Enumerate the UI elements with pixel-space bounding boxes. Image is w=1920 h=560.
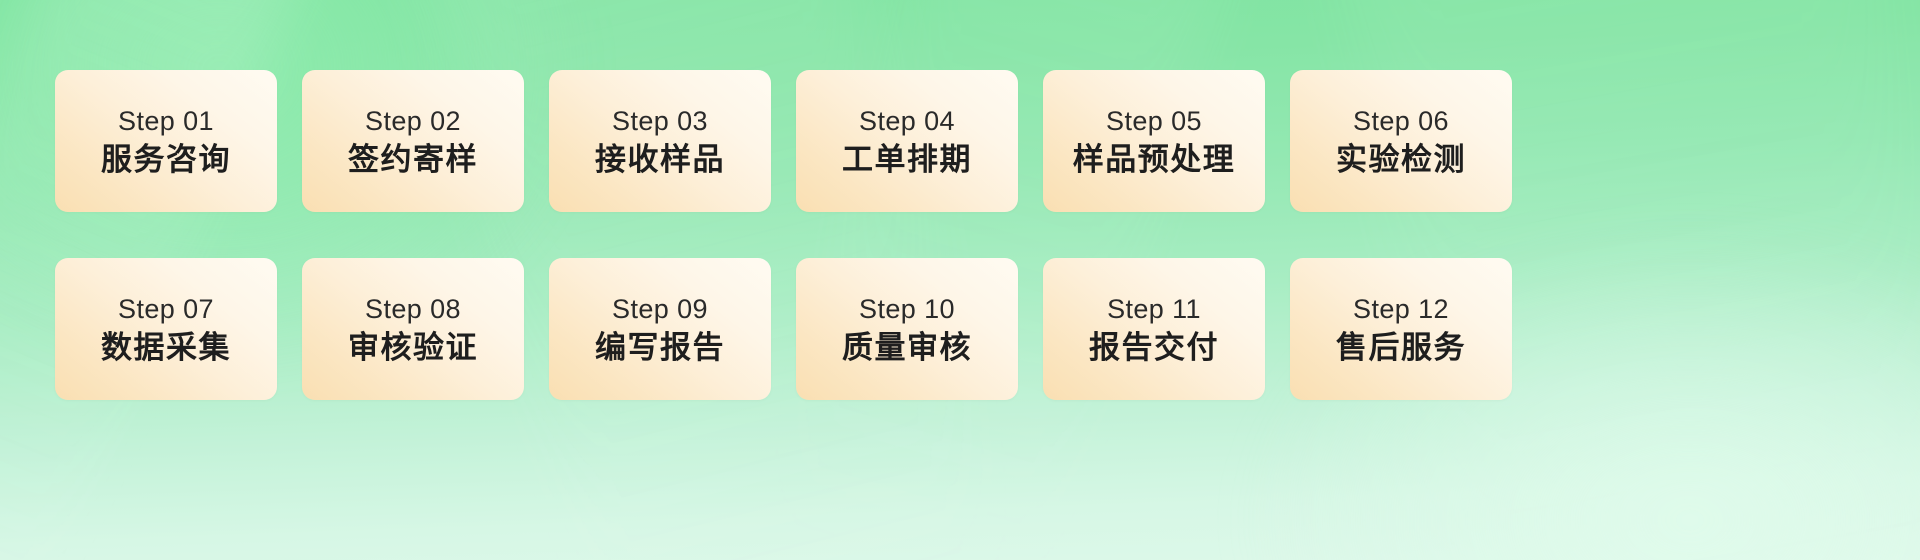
step-label: 接收样品 bbox=[595, 144, 725, 175]
step-card[interactable]: Step 11 报告交付 bbox=[1043, 258, 1265, 400]
step-number: Step 04 bbox=[859, 108, 955, 135]
step-label: 审核验证 bbox=[348, 332, 478, 363]
step-number: Step 09 bbox=[612, 296, 708, 323]
step-number: Step 07 bbox=[118, 296, 214, 323]
step-card[interactable]: Step 01 服务咨询 bbox=[55, 70, 277, 212]
step-label: 售后服务 bbox=[1336, 332, 1466, 363]
step-label: 样品预处理 bbox=[1073, 144, 1236, 175]
step-label: 服务咨询 bbox=[101, 144, 231, 175]
step-label: 数据采集 bbox=[101, 332, 231, 363]
process-steps-grid: Step 01 服务咨询 Step 02 签约寄样 Step 03 接收样品 S… bbox=[55, 70, 1865, 400]
step-label: 编写报告 bbox=[595, 332, 725, 363]
step-card[interactable]: Step 02 签约寄样 bbox=[302, 70, 524, 212]
step-number: Step 05 bbox=[1106, 108, 1202, 135]
step-card[interactable]: Step 07 数据采集 bbox=[55, 258, 277, 400]
step-label: 实验检测 bbox=[1336, 144, 1466, 175]
step-card[interactable]: Step 03 接收样品 bbox=[549, 70, 771, 212]
step-label: 报告交付 bbox=[1089, 332, 1219, 363]
step-label: 质量审核 bbox=[842, 332, 972, 363]
step-label: 签约寄样 bbox=[348, 144, 478, 175]
step-number: Step 11 bbox=[1107, 296, 1201, 323]
step-card[interactable]: Step 10 质量审核 bbox=[796, 258, 1018, 400]
step-card[interactable]: Step 08 审核验证 bbox=[302, 258, 524, 400]
step-card[interactable]: Step 05 样品预处理 bbox=[1043, 70, 1265, 212]
step-number: Step 08 bbox=[365, 296, 461, 323]
step-card[interactable]: Step 12 售后服务 bbox=[1290, 258, 1512, 400]
step-card[interactable]: Step 06 实验检测 bbox=[1290, 70, 1512, 212]
step-number: Step 02 bbox=[365, 108, 461, 135]
step-card[interactable]: Step 09 编写报告 bbox=[549, 258, 771, 400]
step-number: Step 01 bbox=[118, 108, 214, 135]
step-card[interactable]: Step 04 工单排期 bbox=[796, 70, 1018, 212]
step-number: Step 03 bbox=[612, 108, 708, 135]
step-label: 工单排期 bbox=[842, 144, 972, 175]
step-number: Step 06 bbox=[1353, 108, 1449, 135]
step-number: Step 12 bbox=[1353, 296, 1449, 323]
step-number: Step 10 bbox=[859, 296, 955, 323]
